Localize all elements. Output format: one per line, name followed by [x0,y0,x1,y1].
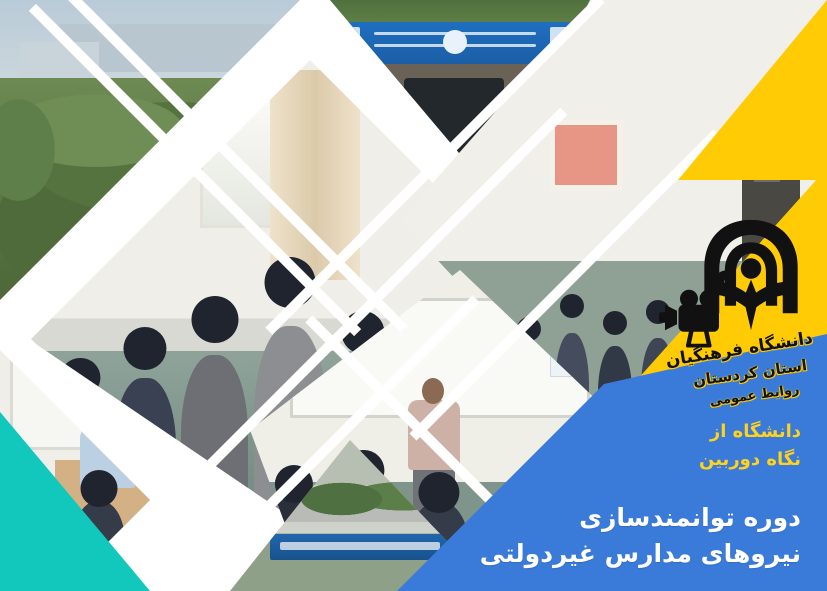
logo-text-public-relations: روابط عمومی [709,382,801,409]
headline-line-1: دوره توانمندسازی [480,500,801,536]
tagline: دانشگاه از نگاه دوربین [699,418,801,474]
tagline-line-2: نگاه دوربین [699,446,801,474]
poster-canvas: دانشگاه فرهنگیان استان کردستان روابط عمو… [0,0,827,591]
movie-camera-icon [656,288,728,350]
headline: دوره توانمندسازی نیروهای مدارس غیردولتی [480,500,801,573]
headline-line-2: نیروهای مدارس غیردولتی [480,536,801,572]
tagline-line-1: دانشگاه از [699,418,801,446]
